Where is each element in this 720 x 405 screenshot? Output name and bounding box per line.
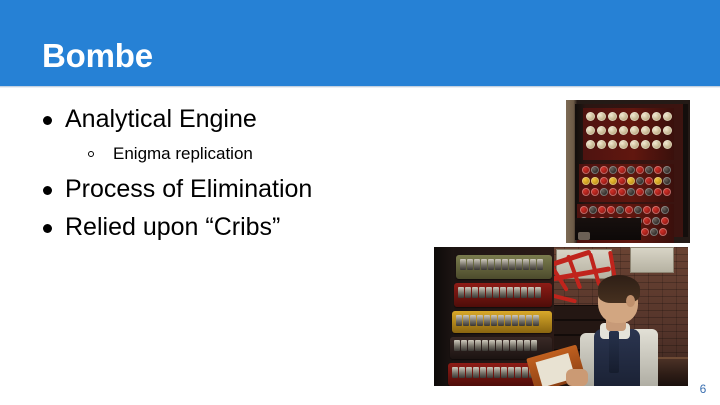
drum-row bbox=[580, 206, 669, 214]
list-item: Analytical Engine bbox=[38, 100, 438, 138]
drum-row bbox=[582, 188, 671, 196]
bombe-operator-photo bbox=[434, 247, 688, 386]
list-item-label: Enigma replication bbox=[113, 144, 253, 163]
necktie bbox=[609, 331, 619, 373]
title-bar-shadow bbox=[0, 86, 720, 88]
machine-foot bbox=[578, 232, 590, 240]
drum-knob-row bbox=[452, 367, 535, 378]
list-item-label: Process of Elimination bbox=[65, 175, 312, 203]
drum-knob-row bbox=[454, 340, 537, 351]
drum-row bbox=[586, 126, 672, 135]
operator-figure bbox=[580, 303, 658, 386]
bullet-disc-icon bbox=[43, 186, 52, 195]
bullet-list: Analytical Engine Enigma replication Pro… bbox=[38, 100, 438, 246]
drum-row bbox=[586, 112, 672, 121]
bullet-disc-icon bbox=[43, 224, 52, 233]
page-number: 6 bbox=[694, 382, 712, 396]
drum-row bbox=[586, 140, 672, 149]
drum-row bbox=[582, 177, 671, 185]
list-item: Relied upon “Cribs” bbox=[38, 208, 438, 246]
bullet-disc-icon bbox=[43, 116, 52, 125]
list-item: Process of Elimination bbox=[38, 170, 438, 208]
list-item: Enigma replication bbox=[38, 138, 438, 170]
drum-knob-row bbox=[456, 315, 539, 326]
list-item-label: Relied upon “Cribs” bbox=[65, 213, 280, 241]
list-item-label: Analytical Engine bbox=[65, 105, 257, 133]
drum-knob-row bbox=[460, 259, 543, 270]
bullet-circle-icon bbox=[88, 151, 94, 157]
bombe-machine-photo bbox=[566, 100, 690, 243]
drum-row bbox=[582, 166, 671, 174]
window bbox=[630, 247, 674, 273]
ear bbox=[626, 295, 635, 307]
slide: Bombe Analytical Engine Enigma replicati… bbox=[0, 0, 720, 405]
hand bbox=[566, 369, 588, 386]
page-title: Bombe bbox=[42, 37, 153, 75]
drum-knob-row bbox=[458, 287, 541, 298]
